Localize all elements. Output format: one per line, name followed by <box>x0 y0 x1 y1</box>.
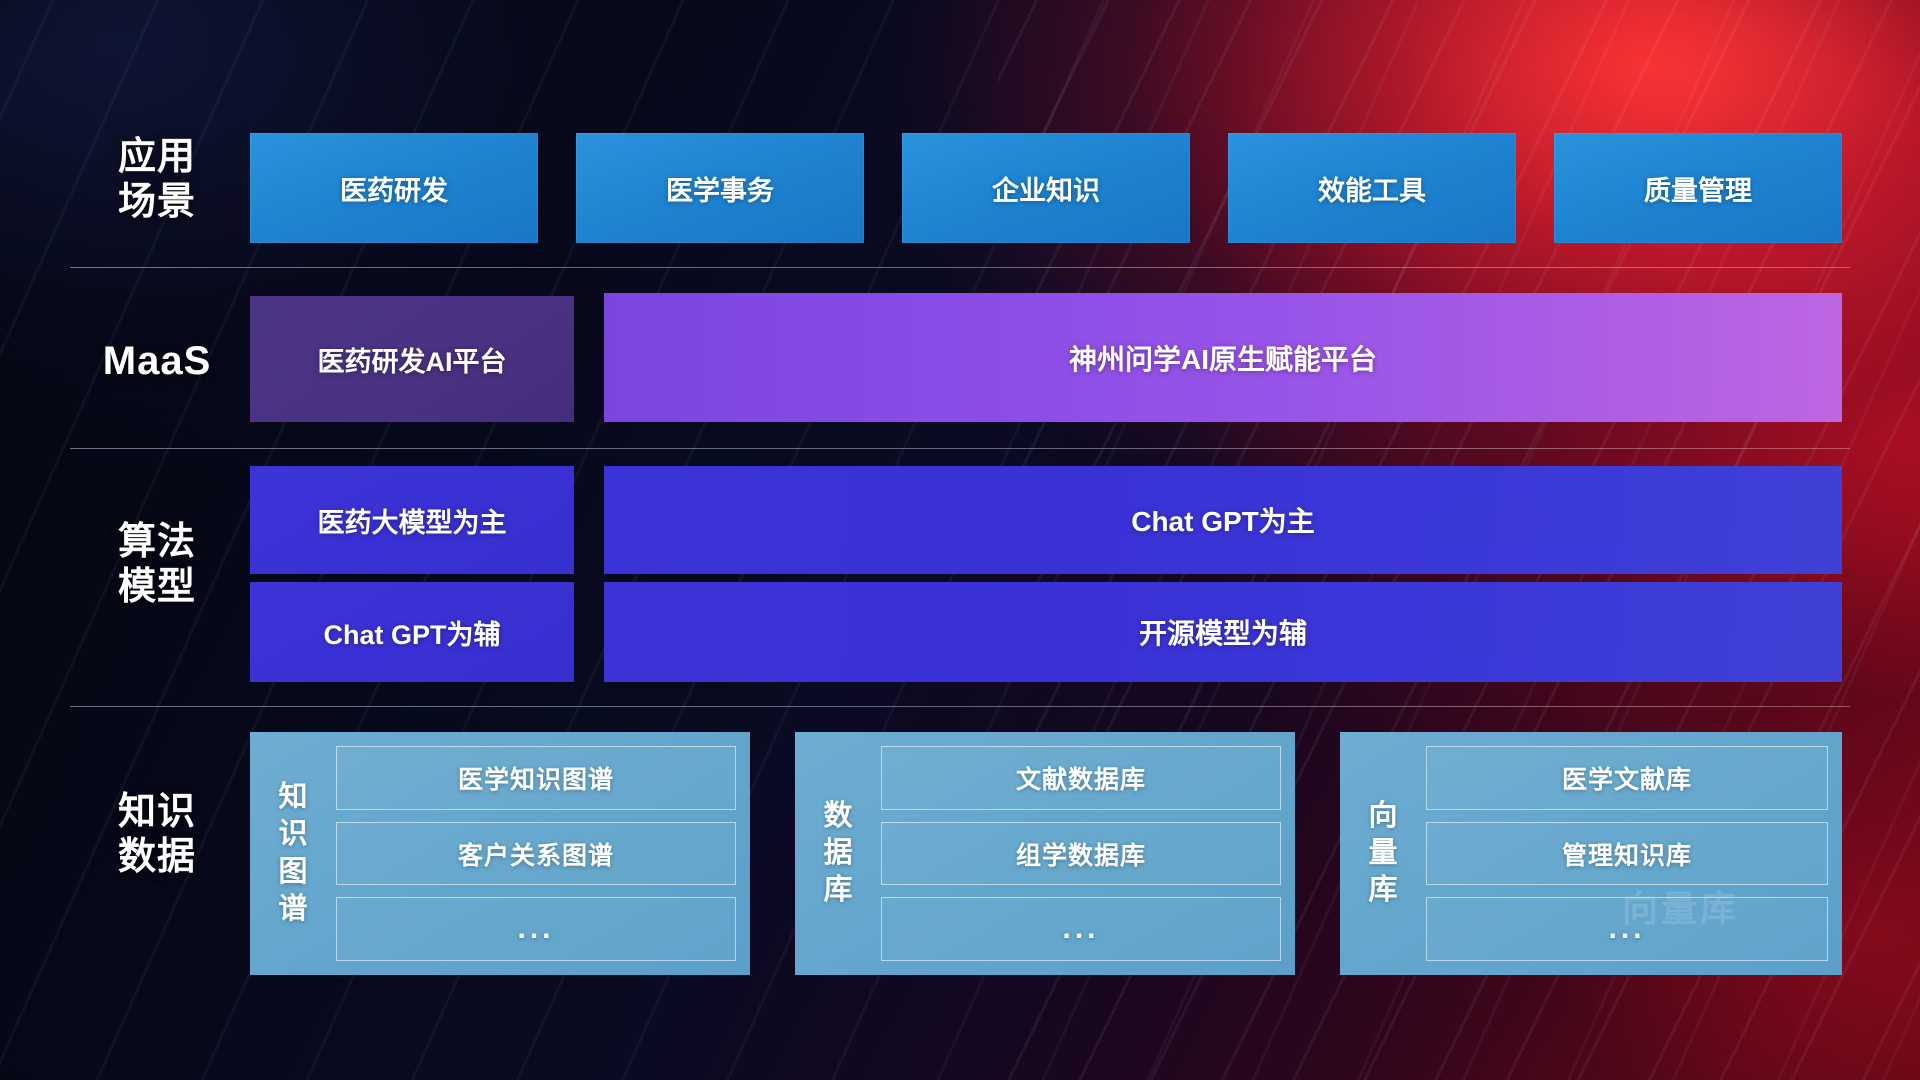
knowledge-group-2-title-char-3: 库 <box>824 872 853 909</box>
algo-row2-left-label: Chat GPT为辅 <box>323 613 500 652</box>
row-label-application-scenarios: 应用 场景 <box>82 135 232 225</box>
knowledge-group-1-item-3[interactable]: ... <box>336 897 736 961</box>
knowledge-group-1[interactable]: 知 识 图 谱 医学知识图谱 客户关系图谱 ... <box>250 732 750 975</box>
knowledge-group-3-item-2[interactable]: 管理知识库 <box>1426 822 1828 886</box>
row-label-maas-text: MaaS <box>82 338 232 385</box>
knowledge-group-3-title-char-3: 库 <box>1369 872 1398 909</box>
app-box-3-label: 企业知识 <box>992 169 1100 208</box>
divider-1 <box>70 267 1850 268</box>
app-box-2[interactable]: 医学事务 <box>576 133 864 243</box>
row-label-knowledge-line-2: 数据 <box>82 835 232 880</box>
divider-2 <box>70 448 1850 449</box>
row-label-algo-line-1: 算法 <box>82 520 232 565</box>
knowledge-group-1-item-1-label: 医学知识图谱 <box>458 760 614 796</box>
maas-right-box[interactable]: 神州问学AI原生赋能平台 <box>604 293 1842 422</box>
row-label-line-1: 应用 <box>82 135 232 180</box>
knowledge-group-1-title-char-2: 识 <box>279 816 308 853</box>
row-label-knowledge-line-1: 知识 <box>82 790 232 835</box>
knowledge-group-2-items: 文献数据库 组学数据库 ... <box>881 746 1281 961</box>
knowledge-group-1-items: 医学知识图谱 客户关系图谱 ... <box>336 746 736 961</box>
app-box-4[interactable]: 效能工具 <box>1228 133 1516 243</box>
architecture-diagram: 应用 场景 医药研发 医学事务 企业知识 效能工具 质量管理 MaaS 医药研发… <box>0 0 1920 1080</box>
algo-row1-right-box[interactable]: Chat GPT为主 <box>604 466 1842 574</box>
knowledge-group-2-item-2[interactable]: 组学数据库 <box>881 822 1281 886</box>
algo-row2-right-box[interactable]: 开源模型为辅 <box>604 582 1842 682</box>
algo-row1-left-label: 医药大模型为主 <box>318 501 507 540</box>
app-box-2-label: 医学事务 <box>666 169 774 208</box>
knowledge-group-3-item-3-label: ... <box>1608 912 1645 946</box>
knowledge-group-1-item-2-label: 客户关系图谱 <box>458 836 614 872</box>
knowledge-group-2[interactable]: 数 据 库 文献数据库 组学数据库 ... <box>795 732 1295 975</box>
app-box-1-label: 医药研发 <box>340 169 448 208</box>
knowledge-group-3-title-char-1: 向 <box>1369 798 1398 835</box>
knowledge-group-3-item-1[interactable]: 医学文献库 <box>1426 746 1828 810</box>
knowledge-group-2-title-char-1: 数 <box>824 798 853 835</box>
divider-3 <box>70 706 1850 707</box>
row-label-algo-line-2: 模型 <box>82 565 232 610</box>
knowledge-group-2-title: 数 据 库 <box>795 746 881 961</box>
knowledge-group-1-title-char-3: 图 <box>279 854 308 891</box>
diagram-stage: 应用 场景 医药研发 医学事务 企业知识 效能工具 质量管理 MaaS 医药研发… <box>0 0 1920 1080</box>
algo-row2-right-label: 开源模型为辅 <box>1139 612 1307 652</box>
knowledge-group-3-items: 医学文献库 管理知识库 ... <box>1426 746 1828 961</box>
knowledge-group-3-item-1-label: 医学文献库 <box>1562 760 1692 796</box>
knowledge-group-3[interactable]: 向 量 库 医学文献库 管理知识库 ... <box>1340 732 1842 975</box>
row-label-knowledge-data: 知识 数据 <box>82 790 232 880</box>
maas-left-box-label: 医药研发AI平台 <box>318 340 507 379</box>
knowledge-group-1-item-3-label: ... <box>517 912 554 946</box>
algo-row1-right-label: Chat GPT为主 <box>1131 500 1315 540</box>
knowledge-group-1-title: 知 识 图 谱 <box>250 746 336 961</box>
knowledge-group-1-item-1[interactable]: 医学知识图谱 <box>336 746 736 810</box>
app-box-3[interactable]: 企业知识 <box>902 133 1190 243</box>
knowledge-group-2-title-char-2: 据 <box>824 835 853 872</box>
knowledge-group-3-item-3[interactable]: ... <box>1426 897 1828 961</box>
row-label-line-2: 场景 <box>82 180 232 225</box>
knowledge-group-1-item-2[interactable]: 客户关系图谱 <box>336 822 736 886</box>
app-box-4-label: 效能工具 <box>1318 169 1426 208</box>
maas-left-box[interactable]: 医药研发AI平台 <box>250 296 574 422</box>
algo-row1-left-box[interactable]: 医药大模型为主 <box>250 466 574 574</box>
knowledge-group-2-item-1-label: 文献数据库 <box>1016 760 1146 796</box>
app-box-5-label: 质量管理 <box>1644 169 1752 208</box>
row-label-algorithm-model: 算法 模型 <box>82 520 232 610</box>
knowledge-group-2-item-1[interactable]: 文献数据库 <box>881 746 1281 810</box>
app-box-5[interactable]: 质量管理 <box>1554 133 1842 243</box>
knowledge-group-2-item-3-label: ... <box>1062 912 1099 946</box>
knowledge-group-1-title-char-4: 谱 <box>279 891 308 928</box>
algo-row2-left-box[interactable]: Chat GPT为辅 <box>250 582 574 682</box>
maas-right-box-label: 神州问学AI原生赋能平台 <box>1069 338 1377 378</box>
app-box-1[interactable]: 医药研发 <box>250 133 538 243</box>
knowledge-group-2-item-2-label: 组学数据库 <box>1016 836 1146 872</box>
knowledge-group-3-title: 向 量 库 <box>1340 746 1426 961</box>
knowledge-group-3-item-2-label: 管理知识库 <box>1562 836 1692 872</box>
knowledge-group-1-title-char-1: 知 <box>279 779 308 816</box>
knowledge-group-2-item-3[interactable]: ... <box>881 897 1281 961</box>
knowledge-group-3-title-char-2: 量 <box>1369 835 1398 872</box>
row-label-maas: MaaS <box>82 338 232 385</box>
